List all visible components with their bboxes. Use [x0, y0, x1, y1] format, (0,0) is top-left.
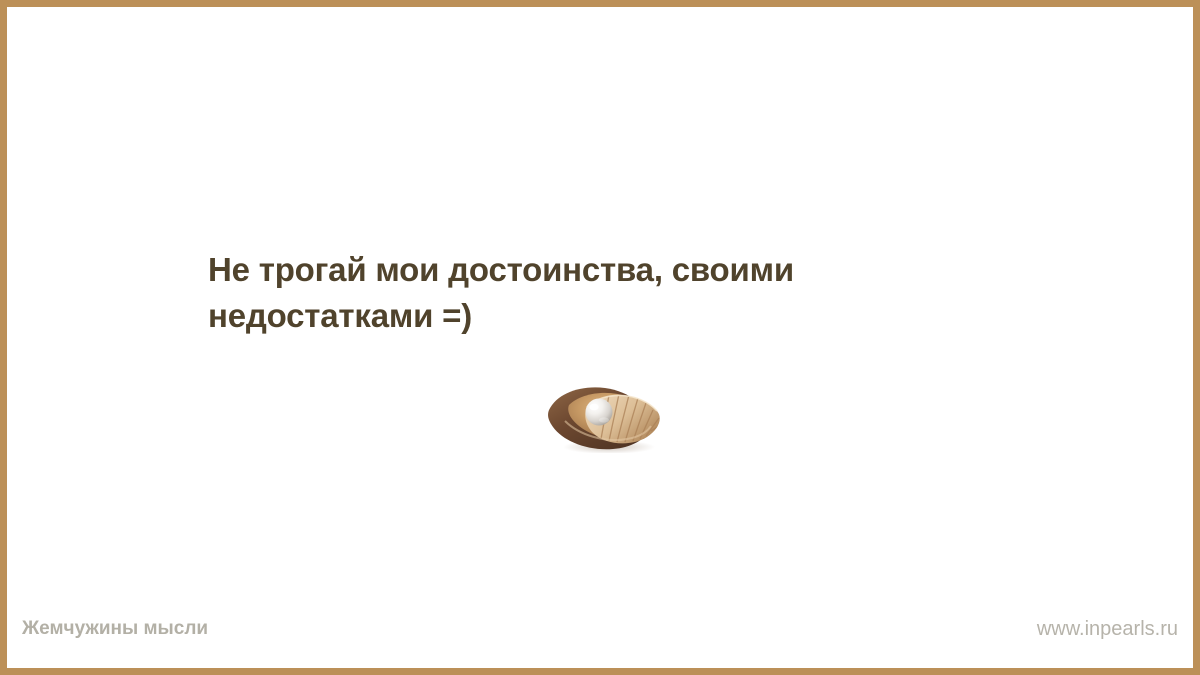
- footer-brand: Жемчужины мысли: [22, 618, 208, 640]
- quote-card: Не трогай мои достоинства, своими недост…: [0, 0, 1200, 675]
- footer: Жемчужины мысли www.inpearls.ru: [7, 616, 1193, 642]
- shell-with-pearl-image: [543, 377, 671, 453]
- quote-text: Не трогай мои достоинства, своими недост…: [208, 247, 1008, 339]
- footer-url[interactable]: www.inpearls.ru: [1037, 618, 1178, 641]
